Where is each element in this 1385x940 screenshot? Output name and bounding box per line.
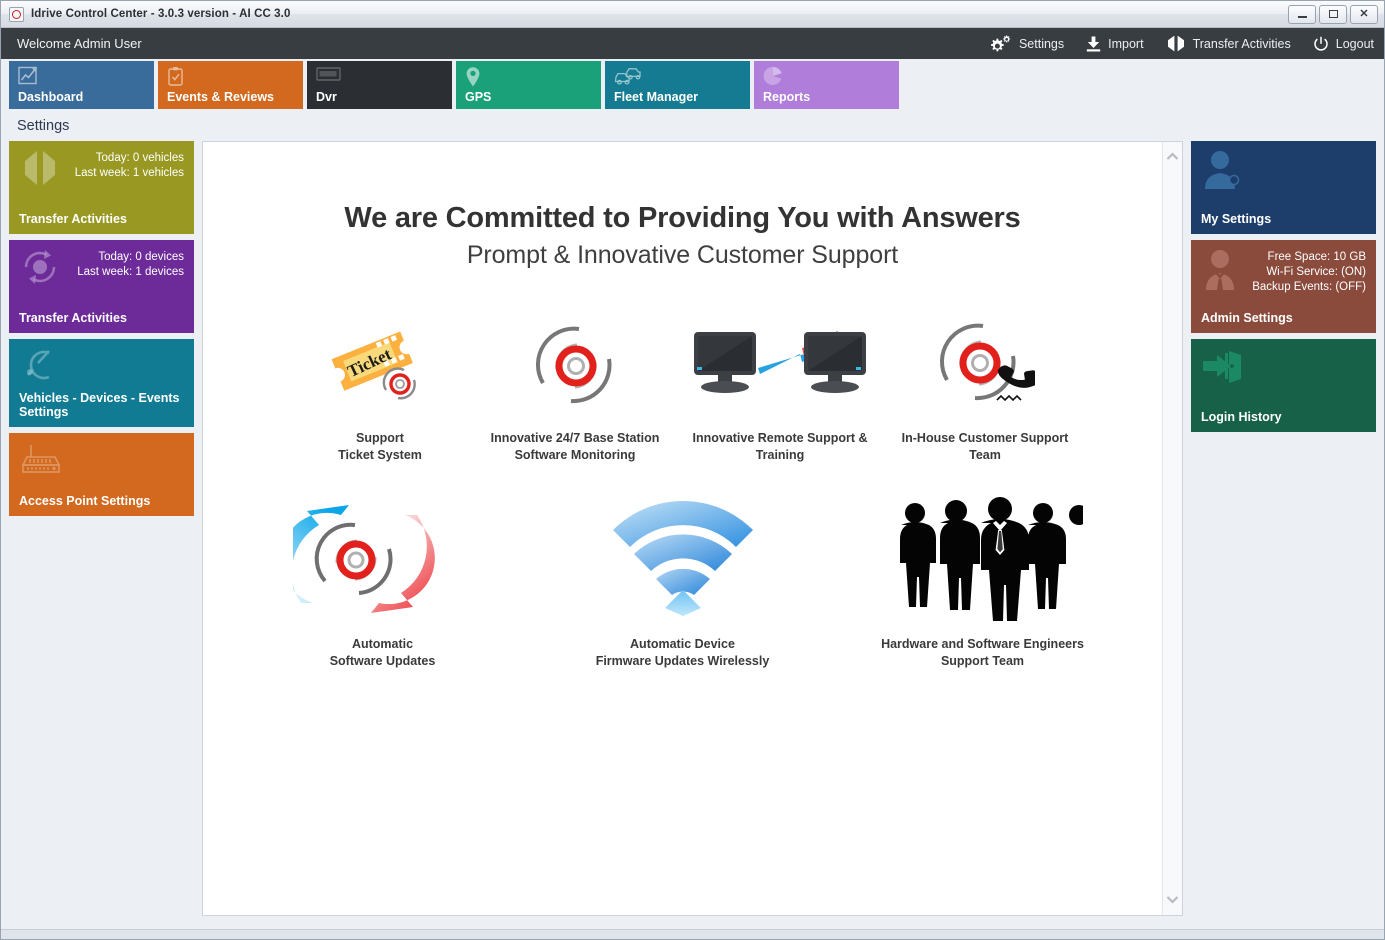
main-headline: We are Committed to Providing You with A…	[223, 202, 1142, 235]
feature-automatic-device-firmware-updates: Automatic Device Firmware Updates Wirele…	[533, 494, 833, 670]
tab-dashboard-label: Dashboard	[18, 90, 83, 104]
people-team-icon	[883, 494, 1083, 624]
wifi-signal-icon	[608, 494, 758, 624]
tile-stat-line: Last week: 1 vehicles	[75, 166, 184, 181]
feature-hardware-software-engineers: Hardware and Software Engineers Support …	[833, 494, 1133, 670]
main-content-panel: We are Committed to Providing You with A…	[202, 141, 1183, 916]
feature-caption: Automatic Device Firmware Updates Wirele…	[596, 636, 770, 670]
tab-events-reviews-label: Events & Reviews	[167, 90, 274, 104]
feature-in-house-support-team: In-House Customer Support Team	[888, 312, 1083, 464]
sidebar-item-transfer-activities-devices[interactable]: Today: 0 devices Last week: 1 devices Tr…	[9, 240, 194, 333]
admin-user-icon	[1201, 248, 1241, 297]
sidebar-item-login-history[interactable]: Login History	[1191, 339, 1376, 432]
feature-base-station-monitoring: Innovative 24/7 Base Station Software Mo…	[478, 312, 673, 464]
tile-stat-line: Free Space: 10 GB	[1252, 250, 1366, 265]
sidebar-item-label: Transfer Activities	[19, 311, 184, 325]
sidebar-item-label: Admin Settings	[1201, 311, 1366, 325]
feature-row-1: Ticket	[223, 312, 1142, 464]
transfer-arrows-icon	[1166, 35, 1186, 52]
auto-update-arrows-icon	[293, 494, 473, 624]
base-station-target-icon	[531, 312, 619, 418]
tile-stat-line: Wi-Fi Service: (ON)	[1252, 265, 1366, 280]
tile-stats: Free Space: 10 GB Wi-Fi Service: (ON) Ba…	[1252, 248, 1366, 295]
gears-icon	[990, 35, 1012, 52]
header-logout-label: Logout	[1336, 37, 1374, 51]
feature-caption: In-House Customer Support Team	[902, 430, 1069, 464]
target-phone-icon	[935, 312, 1035, 418]
window-title: Idrive Control Center - 3.0.3 version - …	[31, 8, 290, 20]
close-icon[interactable]: ✕	[1350, 5, 1378, 24]
header-import-label: Import	[1108, 37, 1143, 51]
map-pin-icon	[465, 66, 481, 93]
header-import-button[interactable]: Import	[1086, 36, 1143, 52]
welcome-message: Welcome Admin User	[17, 36, 142, 51]
feature-automatic-software-updates: Automatic Software Updates	[233, 494, 533, 670]
tile-stats: Today: 0 devices Last week: 1 devices	[77, 248, 184, 280]
feature-remote-support-training: Innovative Remote Support & Training	[673, 312, 888, 464]
feature-caption: Hardware and Software Engineers Support …	[881, 636, 1084, 670]
tab-gps-label: GPS	[465, 90, 491, 104]
breadcrumb: Settings	[1, 111, 1384, 141]
chevron-down-icon[interactable]	[1166, 891, 1179, 909]
pie-chart-icon	[763, 66, 783, 91]
tab-events-reviews[interactable]: Events & Reviews	[158, 61, 303, 109]
header-logout-button[interactable]: Logout	[1313, 36, 1374, 52]
minimize-icon[interactable]	[1288, 5, 1316, 24]
sidebar-item-label: Transfer Activities	[19, 212, 184, 226]
body-area: Today: 0 vehicles Last week: 1 vehicles …	[1, 141, 1384, 929]
wrench-icon	[19, 347, 61, 388]
sidebar-item-label: Vehicles - Devices - Events Settings	[19, 391, 184, 419]
header-bar: Welcome Admin User Settings	[1, 28, 1384, 59]
header-settings-label: Settings	[1019, 37, 1064, 51]
tile-stat-line: Today: 0 devices	[77, 250, 184, 265]
feature-row-2: Automatic Software Updates	[223, 494, 1142, 670]
sidebar-item-access-point-settings[interactable]: Access Point Settings	[9, 433, 194, 516]
chart-trend-icon	[18, 66, 40, 91]
router-icon	[19, 441, 65, 482]
left-sidebar: Today: 0 vehicles Last week: 1 vehicles …	[9, 141, 194, 916]
support-ticket-icon: Ticket	[326, 312, 434, 418]
tile-stat-line: Backup Events: (OFF)	[1252, 280, 1366, 295]
login-door-icon	[1201, 347, 1245, 392]
sidebar-item-label: Access Point Settings	[19, 494, 184, 508]
header-transfer-activities-button[interactable]: Transfer Activities	[1166, 35, 1291, 52]
title-bar: Idrive Control Center - 3.0.3 version - …	[1, 1, 1384, 28]
sidebar-item-my-settings[interactable]: My Settings	[1191, 141, 1376, 234]
power-icon	[1313, 36, 1329, 52]
sidebar-item-label: Login History	[1201, 410, 1366, 424]
sidebar-item-transfer-activities-vehicles[interactable]: Today: 0 vehicles Last week: 1 vehicles …	[9, 141, 194, 234]
feature-caption: Support Ticket System	[338, 430, 422, 464]
app-target-ring-icon	[9, 7, 24, 22]
tab-dvr-label: Dvr	[316, 90, 337, 104]
user-gear-icon	[1201, 149, 1245, 196]
tab-gps[interactable]: GPS	[456, 61, 601, 109]
vehicles-icon	[614, 66, 642, 91]
sidebar-item-label: My Settings	[1201, 212, 1366, 226]
feature-caption: Innovative Remote Support & Training	[692, 430, 867, 464]
tab-dvr[interactable]: Dvr	[307, 61, 452, 109]
sidebar-item-admin-settings[interactable]: Free Space: 10 GB Wi-Fi Service: (ON) Ba…	[1191, 240, 1376, 333]
main-subheadline: Prompt & Innovative Customer Support	[223, 241, 1142, 270]
vertical-scrollbar[interactable]	[1162, 142, 1182, 915]
transfer-arrows-icon	[19, 149, 61, 192]
download-icon	[1086, 36, 1101, 52]
tab-dashboard[interactable]: Dashboard	[9, 61, 154, 109]
feature-caption: Automatic Software Updates	[330, 636, 436, 670]
status-bar	[1, 929, 1384, 939]
chevron-up-icon[interactable]	[1166, 148, 1179, 166]
tab-reports[interactable]: Reports	[754, 61, 899, 109]
header-transfer-activities-label: Transfer Activities	[1193, 37, 1291, 51]
tab-fleet-manager-label: Fleet Manager	[614, 90, 698, 104]
window-controls: ✕	[1288, 5, 1380, 24]
maximize-icon[interactable]	[1319, 5, 1347, 24]
header-actions: Settings Import	[990, 35, 1374, 52]
application-window: Idrive Control Center - 3.0.3 version - …	[0, 0, 1385, 940]
sync-circle-icon	[19, 248, 61, 291]
module-tab-strip: Dashboard Events & Reviews Dvr	[1, 59, 1384, 111]
tab-reports-label: Reports	[763, 90, 810, 104]
main-scroll-area: We are Committed to Providing You with A…	[203, 142, 1162, 915]
clipboard-check-icon	[167, 66, 185, 93]
tab-fleet-manager[interactable]: Fleet Manager	[605, 61, 750, 109]
tile-stat-line: Today: 0 vehicles	[75, 151, 184, 166]
right-sidebar: My Settings	[1191, 141, 1376, 916]
feature-caption: Innovative 24/7 Base Station Software Mo…	[491, 430, 660, 464]
sidebar-item-vehicles-devices-events-settings[interactable]: Vehicles - Devices - Events Settings	[9, 339, 194, 427]
remote-monitors-icon	[690, 312, 870, 418]
dvr-device-icon	[316, 66, 342, 88]
header-settings-button[interactable]: Settings	[990, 35, 1064, 52]
tile-stats: Today: 0 vehicles Last week: 1 vehicles	[75, 149, 184, 181]
feature-support-ticket-system: Ticket	[283, 312, 478, 464]
tile-stat-line: Last week: 1 devices	[77, 265, 184, 280]
page-title: Settings	[17, 118, 69, 134]
